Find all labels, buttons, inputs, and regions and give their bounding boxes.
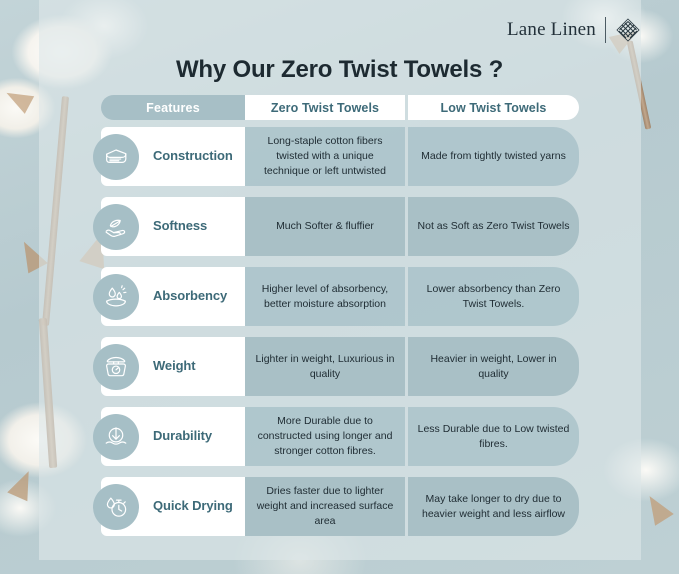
low-twist-cell: Lower absorbency than Zero Twist Towels. xyxy=(408,267,579,326)
brand-name: Lane Linen xyxy=(507,19,596,41)
cotton-husk xyxy=(2,84,34,114)
zero-twist-cell: Lighter in weight, Luxurious in quality xyxy=(245,337,405,396)
water-droplets-icon xyxy=(93,274,139,320)
woven-diamond-logo-icon xyxy=(615,17,641,43)
feature-label: Softness xyxy=(153,219,213,234)
low-twist-cell: Not as Soft as Zero Twist Towels xyxy=(408,197,579,256)
table-row: Construction Long-staple cotton fibers t… xyxy=(101,127,579,186)
header-features: Features xyxy=(101,95,245,120)
zero-twist-cell: Long-staple cotton fibers twisted with a… xyxy=(245,127,405,186)
low-twist-cell: Less Durable due to Low twisted fibres. xyxy=(408,407,579,466)
feature-cell: Durability xyxy=(101,407,245,466)
feature-label: Construction xyxy=(153,149,239,164)
feature-label: Durability xyxy=(153,429,218,444)
arrow-down-into-water-icon xyxy=(93,414,139,460)
brand-logo: Lane Linen xyxy=(507,17,641,43)
folded-towel-icon xyxy=(93,134,139,180)
feature-cell: Quick Drying xyxy=(101,477,245,536)
cotton-husk xyxy=(640,490,673,525)
feature-cell: Construction xyxy=(101,127,245,186)
table-row: Softness Much Softer & fluffier Not as S… xyxy=(101,197,579,256)
table-header-row: Features Zero Twist Towels Low Twist Tow… xyxy=(101,95,579,120)
table-row: Weight Lighter in weight, Luxurious in q… xyxy=(101,337,579,396)
hand-with-feather-icon xyxy=(93,204,139,250)
cotton-husk xyxy=(7,467,38,502)
table-row: Durability More Durable due to construct… xyxy=(101,407,579,466)
feature-label: Weight xyxy=(153,359,202,374)
comparison-table: Features Zero Twist Towels Low Twist Tow… xyxy=(101,95,579,547)
header-low-twist: Low Twist Towels xyxy=(408,95,579,120)
zero-twist-cell: Higher level of absorbency, better moist… xyxy=(245,267,405,326)
zero-twist-cell: More Durable due to constructed using lo… xyxy=(245,407,405,466)
stopwatch-droplet-icon xyxy=(93,484,139,530)
page-title: Why Our Zero Twist Towels ? xyxy=(0,56,679,84)
feature-cell: Softness xyxy=(101,197,245,256)
kitchen-scale-icon xyxy=(93,344,139,390)
feature-label: Quick Drying xyxy=(153,499,239,514)
low-twist-cell: Heavier in weight, Lower in quality xyxy=(408,337,579,396)
low-twist-cell: Made from tightly twisted yarns xyxy=(408,127,579,186)
feature-label: Absorbency xyxy=(153,289,233,304)
zero-twist-cell: Much Softer & fluffier xyxy=(245,197,405,256)
table-row: Absorbency Higher level of absorbency, b… xyxy=(101,267,579,326)
zero-twist-cell: Dries faster due to lighter weight and i… xyxy=(245,477,405,536)
feature-cell: Absorbency xyxy=(101,267,245,326)
feature-cell: Weight xyxy=(101,337,245,396)
table-row: Quick Drying Dries faster due to lighter… xyxy=(101,477,579,536)
low-twist-cell: May take longer to dry due to heavier we… xyxy=(408,477,579,536)
header-zero-twist: Zero Twist Towels xyxy=(245,95,405,120)
infographic-root: Lane Linen Why Our Zero Twist Towels ? F… xyxy=(0,0,679,574)
brand-divider xyxy=(605,17,606,43)
